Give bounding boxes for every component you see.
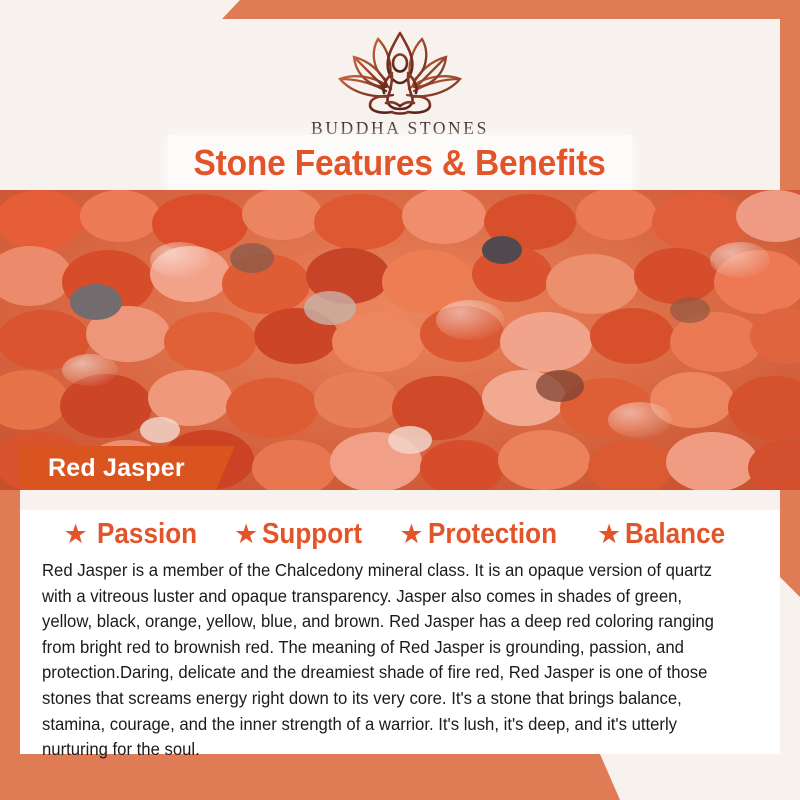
lotus-meditation-logo-icon	[330, 29, 470, 115]
stone-photo-graphic	[0, 190, 800, 490]
content-card: ★ Passion ★ Support ★ Protection ★ Balan…	[20, 490, 780, 754]
stone-name: Red Jasper	[48, 454, 185, 483]
benefit-item-protection: ★ Protection	[399, 518, 571, 551]
benefit-label: Support	[262, 518, 362, 551]
stone-name-ribbon: Red Jasper	[20, 446, 235, 490]
star-icon: ★	[597, 521, 621, 548]
star-icon: ★	[399, 521, 423, 548]
benefit-label: Passion	[97, 518, 197, 551]
stone-photo	[0, 190, 800, 490]
benefit-item-support: ★ Support	[234, 518, 373, 551]
benefits-row: ★ Passion ★ Support ★ Protection ★ Balan…	[20, 514, 780, 554]
benefit-item-balance: ★ Balance	[597, 518, 736, 551]
brand-logo: BUDDHA STONES	[311, 29, 489, 139]
stone-description: Red Jasper is a member of the Chalcedony…	[42, 558, 734, 763]
benefit-label: Protection	[428, 518, 557, 551]
page-title: Stone Features & Benefits	[194, 142, 606, 184]
poster-root: BUDDHA STONES Stone Features & Benefits	[0, 0, 800, 800]
title-banner: Stone Features & Benefits	[168, 135, 632, 191]
star-icon: ★	[234, 521, 258, 548]
benefit-item-passion: ★ Passion	[64, 518, 208, 551]
star-icon: ★	[64, 521, 88, 548]
benefit-label: Balance	[625, 518, 725, 551]
card-top-strip	[20, 490, 780, 510]
top-right-orange-wedge	[222, 0, 800, 19]
